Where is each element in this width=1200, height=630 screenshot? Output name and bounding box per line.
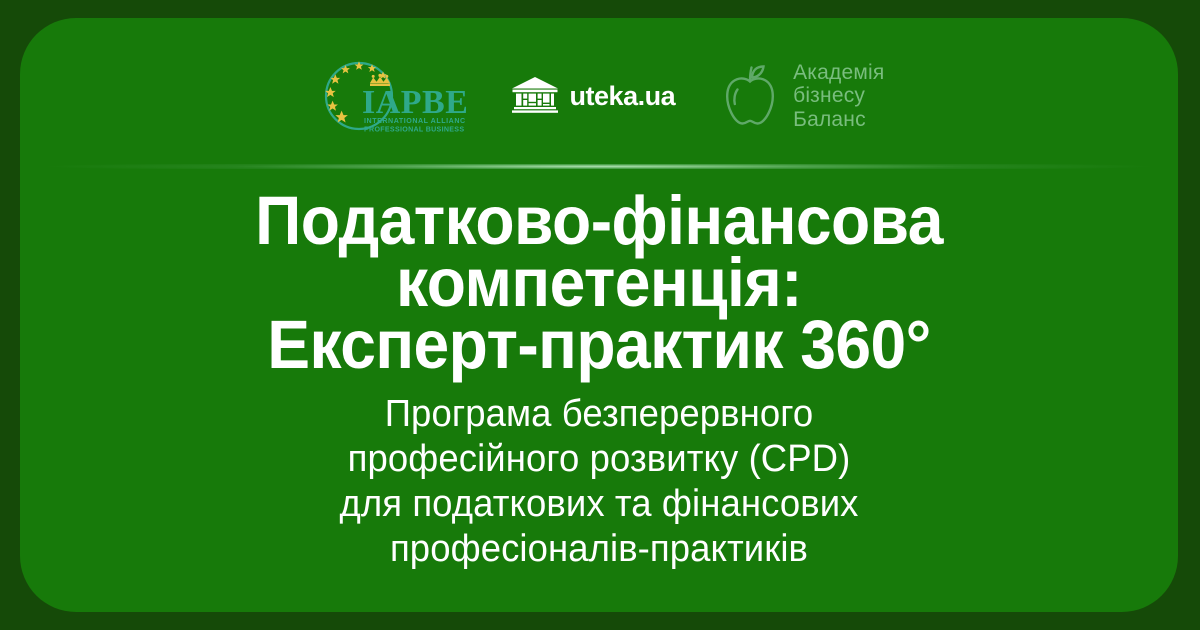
subtitle-line-3: для податкових та фінансових [43,482,1155,527]
subtitle-line-4: професіоналів-практиків [43,527,1155,572]
uteka-wordmark: uteka.ua [570,83,676,110]
logo-iapbe[interactable]: IAPBE INTERNATIONAL ALLIANCE OF PROFESSI… [314,57,466,135]
title-line-1: Податково-фінансова [116,190,1081,252]
banner-content: Податково-фінансова компетенція: Експерт… [20,190,1178,572]
banner-panel: IAPBE INTERNATIONAL ALLIANCE OF PROFESSI… [20,18,1178,612]
title-line-3: Експерт-практик 360° [116,314,1081,376]
logo-uteka[interactable]: uteka.ua [510,74,676,118]
iapbe-stars-crown-icon: IAPBE INTERNATIONAL ALLIANCE OF PROFESSI… [314,57,466,135]
partner-logo-strip: IAPBE INTERNATIONAL ALLIANCE OF PROFESSI… [20,56,1178,136]
apple-outline-icon [719,61,781,131]
title-line-2: компетенція: [116,252,1081,314]
logo-academy-balans[interactable]: Академія бізнесу Баланс [719,61,884,132]
academy-wordmark: Академія бізнесу Баланс [793,61,884,132]
classical-building-icon [510,74,560,118]
academy-line-3: Баланс [793,108,884,132]
academy-line-1: Академія [793,61,884,85]
iapbe-tagline-line2: PROFESSIONAL BUSINESS ELITES [364,126,466,134]
page-subtitle: Програма безперервного професійного розв… [43,392,1155,572]
subtitle-line-2: професійного розвитку (CPD) [43,437,1155,482]
academy-line-2: бізнесу [793,84,884,108]
subtitle-line-1: Програма безперервного [43,392,1155,437]
iapbe-tagline-line1: INTERNATIONAL ALLIANCE OF [364,117,466,125]
header-divider [20,164,1178,169]
promo-banner: IAPBE INTERNATIONAL ALLIANCE OF PROFESSI… [0,0,1200,630]
page-title: Податково-фінансова компетенція: Експерт… [61,190,1138,376]
iapbe-wordmark: IAPBE [362,84,466,121]
